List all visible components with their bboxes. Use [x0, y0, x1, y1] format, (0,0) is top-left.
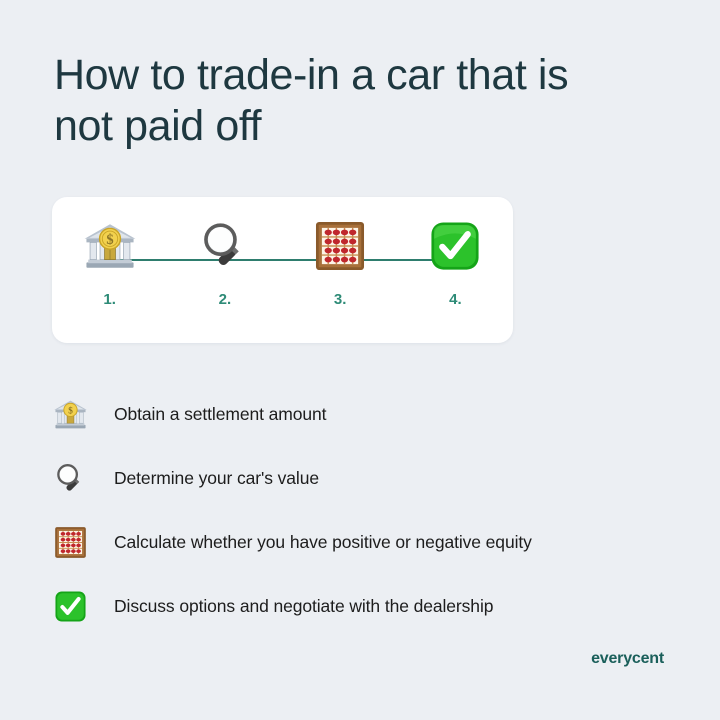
list-item-label: Determine your car's value: [114, 468, 319, 489]
svg-text:$: $: [68, 406, 73, 416]
list-item: Calculate whether you have positive or n…: [52, 510, 672, 574]
svg-text:$: $: [106, 232, 113, 248]
list-item: $ Obtain a settlement amount: [52, 382, 672, 446]
bank-dollar-icon: $: [81, 217, 139, 275]
steps-card: $ 1. 2.: [52, 197, 513, 343]
bank-dollar-icon: $: [52, 396, 89, 433]
step-2: 2.: [167, 217, 282, 308]
magnifying-glass-icon: [52, 460, 89, 497]
page-title: How to trade-in a car that is not paid o…: [54, 50, 654, 151]
page-title-line-1: How to trade-in a car that is: [54, 51, 568, 99]
step-1: $ 1.: [52, 217, 167, 308]
step-3: 3.: [283, 217, 398, 308]
page-title-line-2: not paid off: [54, 102, 261, 150]
step-4-number: 4.: [449, 291, 462, 308]
step-2-number: 2.: [219, 291, 232, 308]
everycent-logo[interactable]: everycent: [591, 650, 664, 668]
list-item: Discuss options and negotiate with the d…: [52, 574, 672, 638]
abacus-icon: [52, 524, 89, 561]
step-1-number: 1.: [103, 291, 116, 308]
list-item: Determine your car's value: [52, 446, 672, 510]
list-item-label: Calculate whether you have positive or n…: [114, 532, 532, 553]
steps-list: $ Obtain a settlement amount Determine y…: [52, 382, 672, 638]
list-item-label: Obtain a settlement amount: [114, 404, 326, 425]
check-mark-button-icon: [426, 217, 484, 275]
check-mark-button-icon: [52, 588, 89, 625]
step-3-number: 3.: [334, 291, 347, 308]
steps-row: $ 1. 2.: [52, 197, 513, 343]
magnifying-glass-icon: [196, 217, 254, 275]
abacus-icon: [311, 217, 369, 275]
step-4: 4.: [398, 217, 513, 308]
list-item-label: Discuss options and negotiate with the d…: [114, 596, 493, 617]
